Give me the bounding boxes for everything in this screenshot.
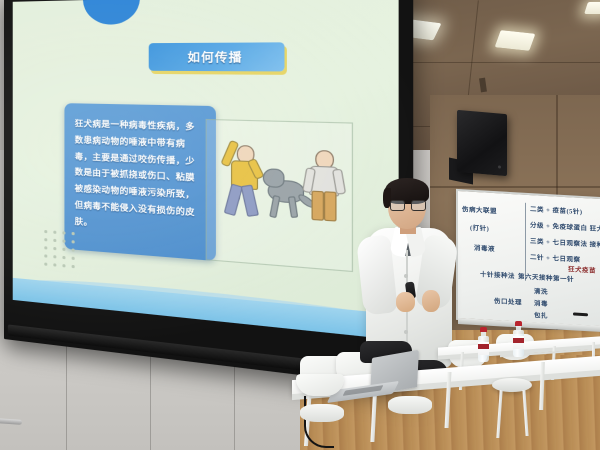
slide-textbox: 狂犬病是一种病毒性疾病，多数患病动物的唾液中带有病毒，主要是通过咬伤传播，少数是… (64, 103, 215, 261)
whiteboard-marker (573, 312, 588, 316)
presenter-left-hand (396, 292, 415, 312)
whiteboard: 伤病大联盟 (打针) 消毒液 二类 + 疫苗(5针) 分级 + 免疫球蛋白 狂犬… (456, 189, 600, 328)
slide-dot-pattern (44, 230, 81, 274)
coat-button (404, 330, 408, 334)
whiteboard-text: 伤口处理 (494, 295, 522, 307)
slide-title-text: 如何传播 (187, 48, 242, 66)
whiteboard-text: (打针) (470, 222, 489, 233)
whiteboard-text: 伤病大联盟 (462, 203, 497, 215)
whiteboard-text: 十针接种法 (480, 268, 515, 280)
whiteboard-text: 包扎 (534, 309, 548, 320)
slide-title-banner: 如何传播 (149, 42, 285, 71)
whiteboard-text: 消毒 (534, 297, 548, 308)
coat-button (404, 274, 408, 278)
whiteboard-text: 消毒液 (474, 242, 495, 253)
square-downlight (495, 30, 536, 51)
slide-illustration (206, 119, 353, 272)
speaker-led (498, 165, 501, 168)
eyeglasses-icon (390, 200, 424, 209)
whiteboard-divider (525, 202, 526, 281)
whiteboard-text: 三类 + 七日观察法 接种二针 (530, 235, 600, 250)
presenter-right-hand (422, 290, 440, 312)
whiteboard-text: 分级 + 免疫球蛋白 狂犬病 (530, 219, 600, 234)
whiteboard-text: 清洗 (534, 285, 548, 296)
slide-body-text: 狂犬病是一种病毒性疾病，多数患病动物的唾液中带有病毒，主要是通过咬伤传播，少数是… (75, 116, 205, 239)
square-downlight (584, 2, 600, 14)
whiteboard-text: 第六天接种第一针 (518, 270, 574, 283)
whiteboard-text: 二类 + 疫苗(5针) (530, 203, 583, 216)
screen-surface: 如何传播 狂犬病是一种病毒性疾病，多数患病动物的唾液中带有病毒，主要是通过咬伤传… (13, 0, 399, 340)
presentation-slide: 如何传播 狂犬病是一种病毒性疾病，多数患病动物的唾液中带有病毒，主要是通过咬伤传… (13, 0, 399, 340)
whiteboard-text: 二针 + 七日观察 (530, 251, 580, 264)
loudspeaker (457, 110, 507, 176)
whiteboard-text: 狂犬疫苗 (568, 263, 596, 275)
slide-decor-circle (83, 0, 140, 25)
lecture-room-photo: 伤病大联盟 (打针) 消毒液 二类 + 疫苗(5针) 分级 + 免疫球蛋白 狂犬… (0, 0, 600, 450)
